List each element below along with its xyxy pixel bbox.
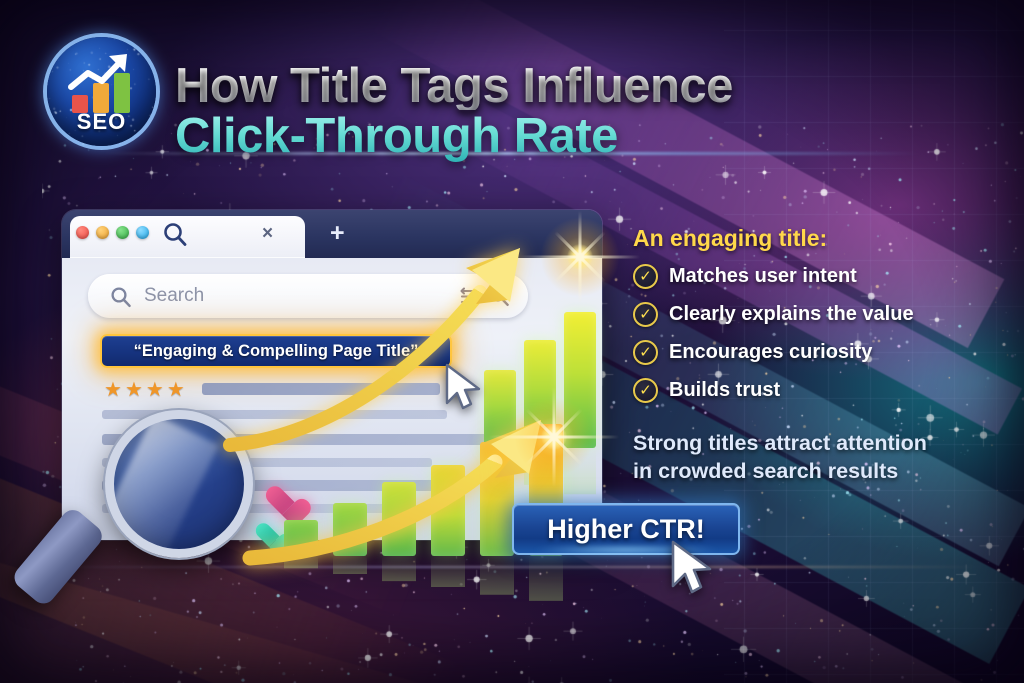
infographic-canvas: SEO How Title Tags Influence Click-Throu… — [0, 0, 1024, 683]
close-dot[interactable] — [76, 226, 89, 239]
tagline-line-1: Strong titles attract attention — [633, 430, 973, 458]
check-glyph: ✓ — [639, 345, 652, 360]
check-glyph: ✓ — [639, 307, 652, 322]
mouse-pointer-icon — [668, 540, 718, 598]
magnifier-glare — [105, 414, 219, 558]
headline-line-1: How Title Tags Influence — [175, 62, 835, 110]
tagline-line-2: in crowded search results — [633, 458, 973, 486]
checklist-item-label: Builds trust — [669, 379, 780, 402]
search-magnifier-icon — [110, 286, 132, 308]
upper-starburst — [575, 252, 585, 262]
check-circle-icon: ✓ — [633, 378, 658, 403]
headline-line-2: Click-Through Rate — [175, 112, 835, 162]
lower-starburst — [549, 432, 559, 442]
search-placeholder: Search — [144, 285, 204, 307]
seo-badge-label: SEO — [47, 109, 156, 135]
checklist-item: ✓ Builds trust — [633, 378, 963, 403]
maximize-dot[interactable] — [116, 226, 129, 239]
window-traffic-lights — [76, 226, 149, 239]
mouse-pointer-icon — [443, 363, 485, 413]
check-circle-icon: ✓ — [633, 264, 658, 289]
search-magnifier-icon — [162, 221, 188, 247]
checklist-item-label: Clearly explains the value — [669, 303, 914, 326]
extra-dot[interactable] — [136, 226, 149, 239]
seo-logo-badge: SEO — [47, 37, 156, 146]
tagline: Strong titles attract attention in crowd… — [633, 430, 973, 485]
check-circle-icon: ✓ — [633, 340, 658, 365]
checklist-item: ✓ Clearly explains the value — [633, 302, 963, 327]
checklist-item-label: Encourages curiosity — [669, 341, 872, 364]
checklist-heading: An engaging title: — [633, 225, 963, 252]
page-title: How Title Tags Influence Click-Through R… — [175, 62, 835, 162]
checklist-item: ✓ Matches user intent — [633, 264, 963, 289]
checklist-item: ✓ Encourages curiosity — [633, 340, 963, 365]
engaging-title-checklist: An engaging title: ✓ Matches user intent… — [633, 225, 963, 416]
check-circle-icon: ✓ — [633, 302, 658, 327]
checklist-item-label: Matches user intent — [669, 265, 857, 288]
check-glyph: ✓ — [639, 383, 652, 398]
check-glyph: ✓ — [639, 269, 652, 284]
minimize-dot[interactable] — [96, 226, 109, 239]
